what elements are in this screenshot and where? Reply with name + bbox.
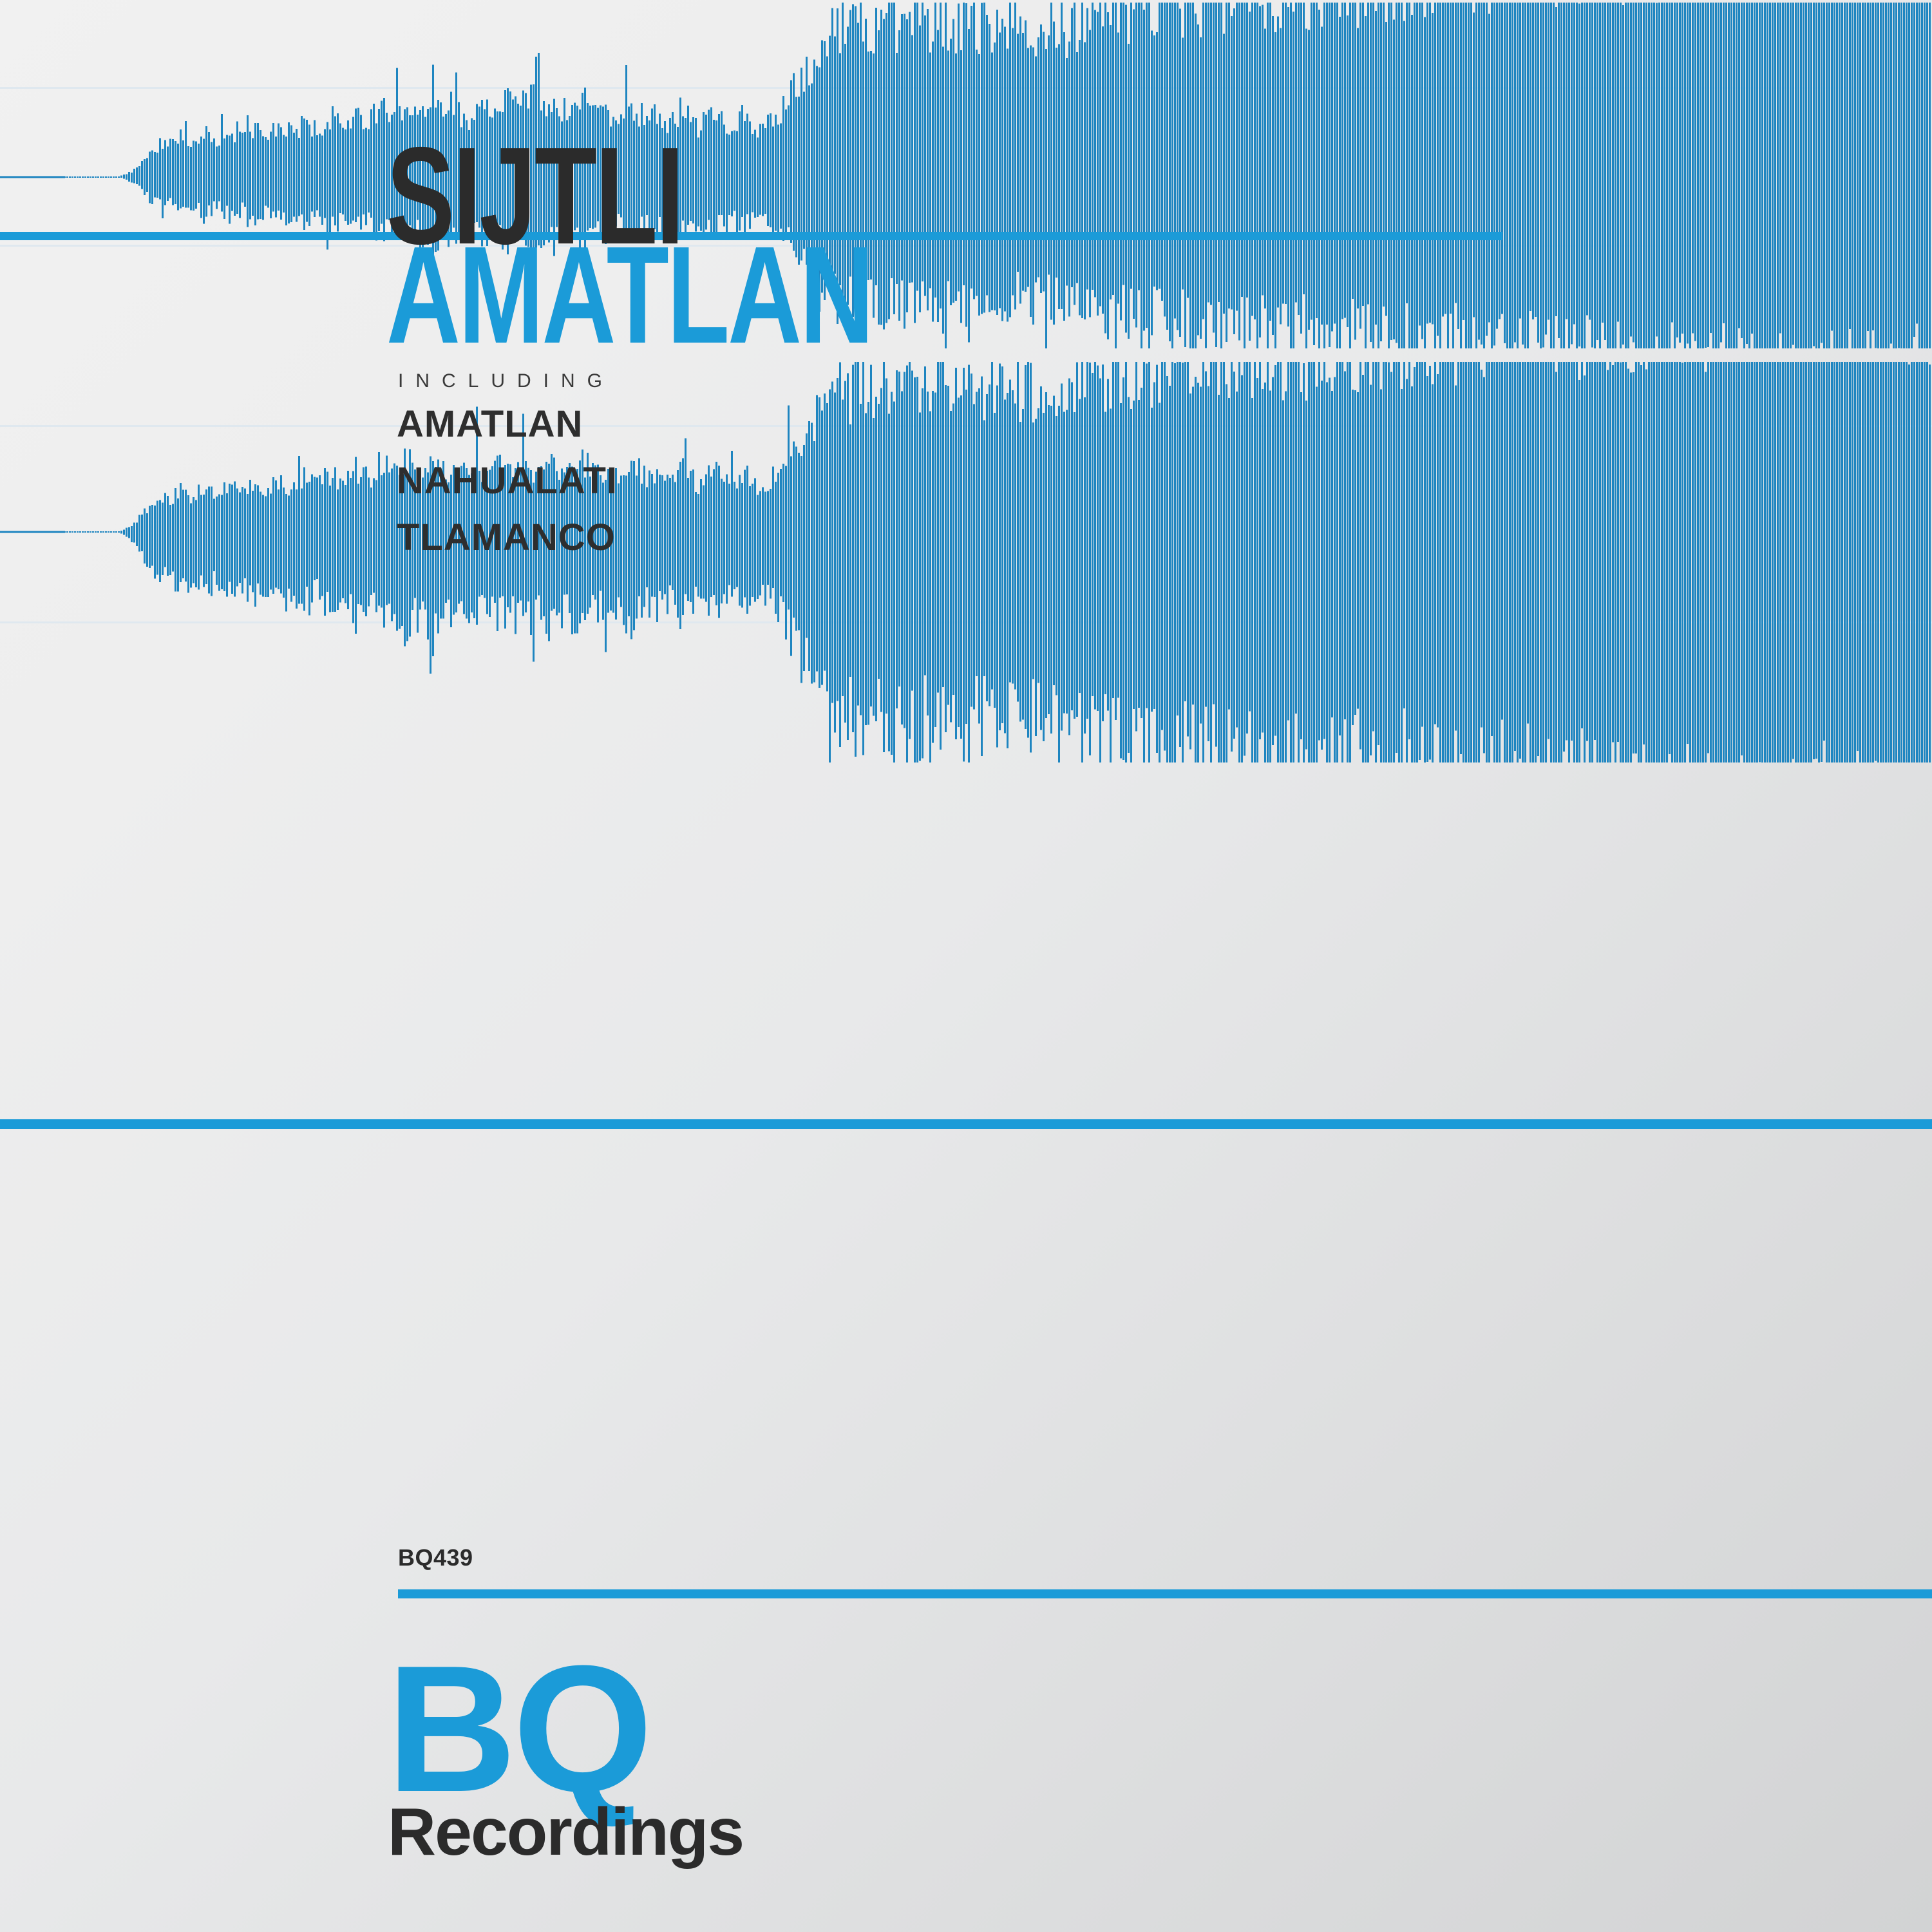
waveform-channel-right [0,359,1932,765]
tracklist: AMATLAN NAHUALATI TLAMANCO [397,406,618,576]
accent-rule-bottom [398,1589,1932,1598]
waveform-visualization [0,0,1932,766]
release-title: AMATLAN [386,225,872,364]
label-logo: BQ Recordings [386,1639,747,1897]
album-cover: SIJTLI AMATLAN INCLUDING AMATLAN NAHUALA… [0,0,1932,1932]
track-item: NAHUALATI [397,462,618,500]
waveform-channel-left [0,0,1932,351]
track-item: AMATLAN [397,406,618,443]
catalog-number: BQ439 [398,1544,473,1571]
label-logo-recordings: Recordings [388,1799,743,1866]
label-logo-bq: BQ [386,1639,649,1819]
accent-rule-waveform-divider [0,1119,1932,1129]
including-label: INCLUDING [398,370,614,392]
waveform-right-svg [0,359,1932,765]
track-item: TLAMANCO [397,519,618,556]
waveform-left-svg [0,0,1932,351]
